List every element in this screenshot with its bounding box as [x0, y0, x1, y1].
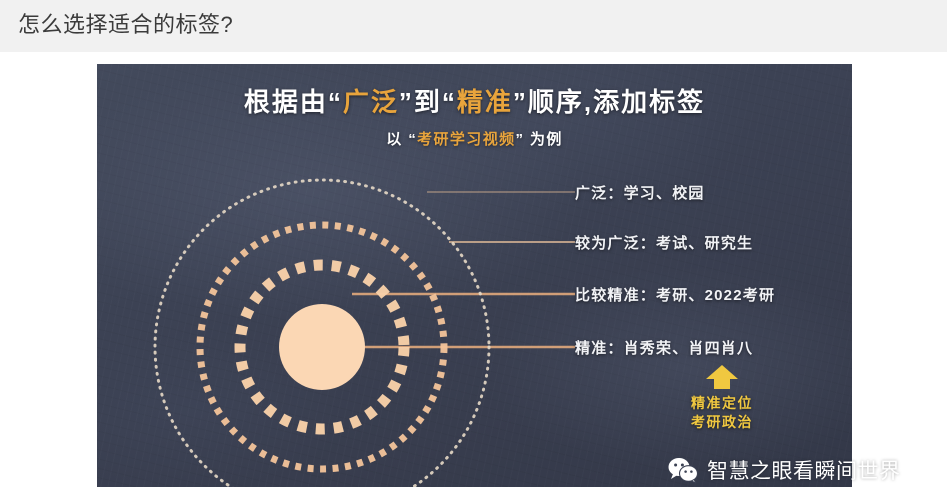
- callout-line-2: 考研政治: [637, 413, 807, 432]
- page-title: 怎么选择适合的标签?: [18, 9, 233, 41]
- label-text-precise: 精准：肖秀荣、肖四肖八: [575, 337, 753, 358]
- label-text-broad: 广泛：学习、校园: [575, 182, 705, 203]
- label-row-fairly-precise: 比较精准：考研、2022考研: [575, 282, 775, 306]
- watermark: 智慧之眼看瞬间世界: [668, 453, 901, 487]
- label-row-precise: 精准：肖秀荣、肖四肖八: [575, 335, 753, 359]
- slide-image-panel: 根据由“广泛”到“精准”顺序,添加标签 以 “考研学习视频” 为例 广泛：学习、…: [97, 64, 852, 487]
- callout-line-1: 精准定位: [637, 394, 807, 413]
- label-row-fairly-broad: 较为广泛：考试、研究生: [575, 230, 753, 254]
- callout-block: 精准定位 考研政治: [637, 364, 807, 432]
- label-text-fairly-precise: 比较精准：考研、2022考研: [575, 284, 775, 305]
- watermark-text: 智慧之眼看瞬间世界: [707, 455, 901, 485]
- up-arrow-icon: [705, 364, 739, 390]
- label-text-fairly-broad: 较为广泛：考试、研究生: [575, 232, 753, 253]
- label-row-broad: 广泛：学习、校园: [575, 180, 705, 204]
- wechat-icon: [668, 457, 698, 483]
